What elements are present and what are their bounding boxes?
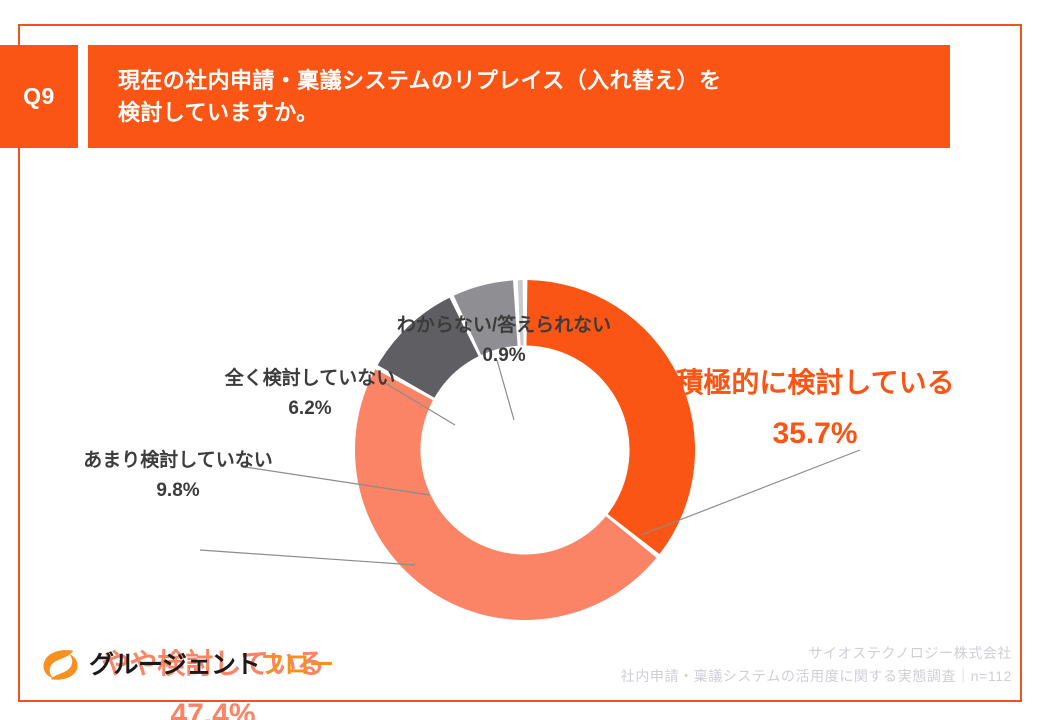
donut-slice-somewhat[interactable] bbox=[355, 369, 657, 620]
slice-label-none-name: 全く検討していない bbox=[224, 366, 396, 392]
slice-label-none: 全く検討していない 6.2% bbox=[224, 366, 396, 422]
slice-label-active-name: 積極的に検討している bbox=[644, 364, 986, 403]
brand-logo-text-orange: フロー bbox=[260, 651, 334, 679]
slice-label-none-value: 6.2% bbox=[224, 396, 396, 422]
slice-label-active-value: 35.7% bbox=[644, 413, 986, 454]
question-title-box: 現在の社内申請・稟議システムのリプレイス（入れ替え）を 検討していますか。 bbox=[88, 45, 950, 148]
question-number-label: Q9 bbox=[23, 83, 55, 110]
leader-line-somewhat bbox=[200, 550, 415, 565]
swoosh-s-icon bbox=[42, 648, 80, 682]
brand-logo-text-dark: グルージェント bbox=[89, 651, 260, 679]
survey-credits: サイオステクノロジー株式会社 社内申請・稟議システムの活用度に関する実態調査｜n… bbox=[621, 642, 1012, 688]
slice-label-active: 積極的に検討している 35.7% bbox=[644, 364, 986, 454]
slice-label-little: あまり検討していない 9.8% bbox=[78, 448, 278, 504]
credit-survey: 社内申請・稟議システムの活用度に関する実態調査｜n=112 bbox=[621, 665, 1012, 688]
question-title-line-1: 現在の社内申請・稟議システムのリプレイス（入れ替え）を bbox=[118, 65, 950, 96]
brand-logo[interactable]: グルージェントフロー bbox=[42, 648, 334, 682]
credit-company: サイオステクノロジー株式会社 bbox=[621, 642, 1012, 665]
slice-label-unknown: わからない/答えられない 0.9% bbox=[393, 313, 615, 369]
slice-label-little-value: 9.8% bbox=[78, 478, 278, 504]
slide-root: Q9 現在の社内申請・稟議システムのリプレイス（入れ替え）を 検討していますか。 bbox=[0, 0, 1040, 720]
slice-label-somewhat-value: 47.4% bbox=[58, 694, 368, 720]
slice-label-unknown-name: わからない/答えられない bbox=[393, 313, 615, 339]
question-number-badge: Q9 bbox=[0, 45, 78, 148]
slice-label-unknown-value: 0.9% bbox=[393, 343, 615, 369]
slice-label-little-name: あまり検討していない bbox=[78, 448, 278, 474]
brand-logo-text: グルージェントフロー bbox=[89, 653, 334, 678]
question-title-line-2: 検討していますか。 bbox=[118, 97, 950, 128]
donut-chart-area: わからない/答えられない 0.9% 全く検討していない 6.2% あまり検討して… bbox=[0, 150, 1040, 640]
